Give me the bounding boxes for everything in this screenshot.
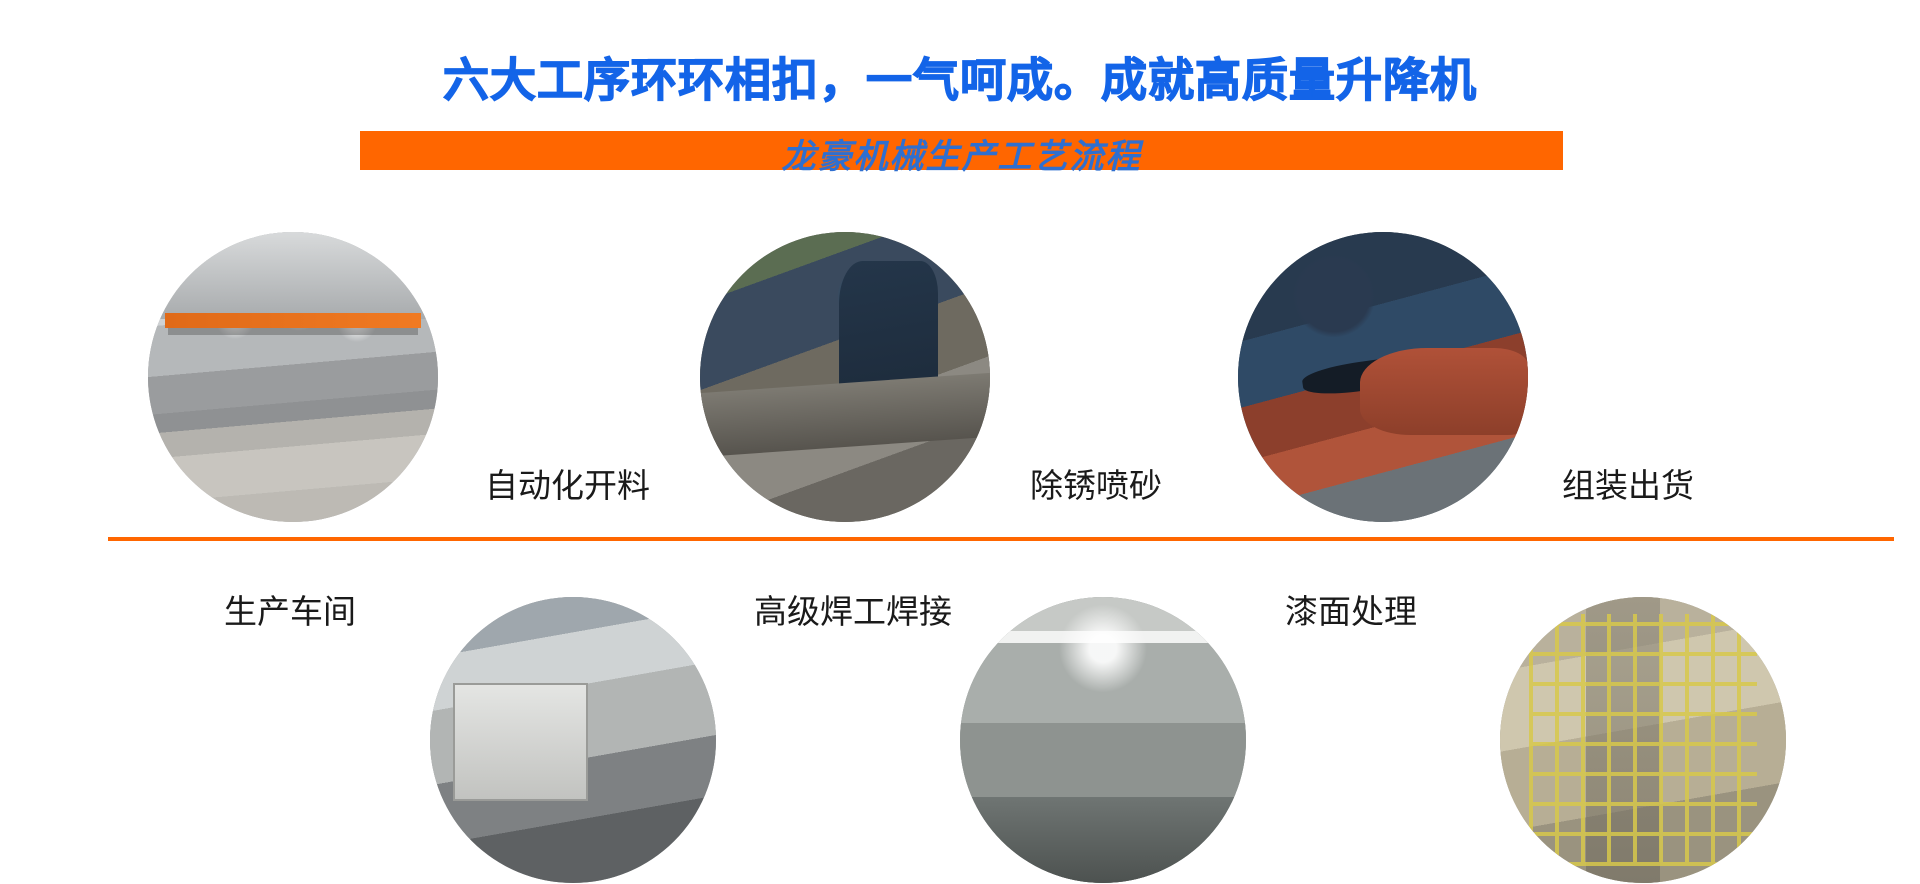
- assembly-photo: [1500, 597, 1786, 883]
- photo-circle-paint: [960, 597, 1246, 883]
- cutting-photo: [700, 232, 990, 522]
- step-label-senior-welding: 高级焊工焊接: [754, 585, 952, 633]
- step-label-production-workshop: 生产车间: [224, 585, 356, 633]
- cnc-photo: [430, 597, 716, 883]
- photo-circle-cutting: [700, 232, 990, 522]
- process-banner: 龙豪机械生产工艺流程: [360, 131, 1563, 170]
- blasting-photo: [1238, 232, 1528, 522]
- photo-circle-cnc: [430, 597, 716, 883]
- photo-circle-workshop: [148, 232, 438, 522]
- step-label-derusting-sandblasting: 除锈喷砂: [1030, 459, 1162, 507]
- step-label-assembly-shipping: 组装出货: [1562, 459, 1694, 507]
- workshop-photo: [148, 232, 438, 522]
- process-banner-label: 龙豪机械生产工艺流程: [360, 134, 1563, 173]
- photo-circle-assembly: [1500, 597, 1786, 883]
- photo-circle-blasting: [1238, 232, 1528, 522]
- step-label-paint-finishing: 漆面处理: [1285, 585, 1417, 633]
- paint-photo: [960, 597, 1246, 883]
- step-label-automated-cutting: 自动化开料: [485, 459, 650, 507]
- page-headline: 六大工序环环相扣，一气呵成。成就高质量升降机: [0, 44, 1920, 110]
- section-divider: [108, 537, 1894, 541]
